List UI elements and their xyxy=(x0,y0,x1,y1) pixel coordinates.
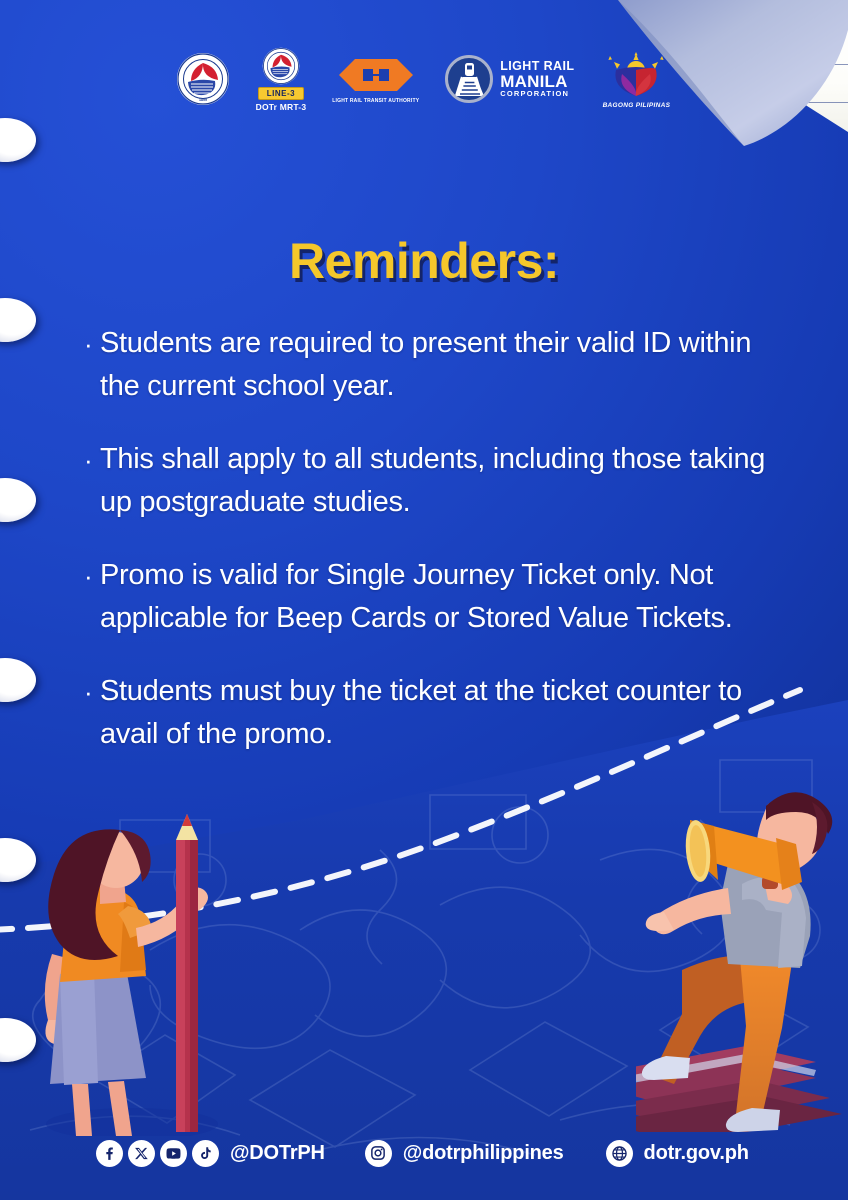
list-item: · Students are required to present their… xyxy=(84,322,784,408)
list-item: · Promo is valid for Single Journey Tick… xyxy=(84,554,784,640)
page-title: Reminders: xyxy=(0,232,848,290)
lrmc-line1: LIGHT RAIL xyxy=(500,60,574,73)
lrmc-badge-icon xyxy=(445,55,493,103)
lrmc-line2: MANILA xyxy=(500,73,574,90)
tiktok-icon[interactable] xyxy=(192,1140,219,1167)
lrmc-line3: CORPORATION xyxy=(500,90,574,98)
instagram-icon[interactable] xyxy=(365,1140,392,1167)
lrmc-wordmark: LIGHT RAIL MANILA CORPORATION xyxy=(500,60,574,98)
social-footer-bar: @DOTrPH @dotrphilippines xyxy=(0,1132,848,1174)
agency-logo-strip: 1899 LINE-3 DOTr MRT-3 xyxy=(0,38,848,120)
instagram-handle[interactable]: @dotrphilippines xyxy=(403,1142,564,1165)
svg-text:1899: 1899 xyxy=(199,98,207,102)
x-twitter-icon[interactable] xyxy=(128,1140,155,1167)
lrta-caption: LIGHT RAIL TRANSIT AUTHORITY xyxy=(332,98,419,104)
bullet-marker: · xyxy=(84,438,100,524)
bagong-pilipinas-caption: BAGONG PILIPINAS xyxy=(603,102,671,109)
mrt3-sublabel: DOTr MRT-3 xyxy=(256,102,307,112)
social-group-instagram: @dotrphilippines xyxy=(365,1140,564,1167)
reminders-list: · Students are required to present their… xyxy=(84,322,784,786)
social-group-dotrph: @DOTrPH xyxy=(96,1140,325,1167)
list-item: · This shall apply to all students, incl… xyxy=(84,438,784,524)
list-item-text: Students are required to present their v… xyxy=(100,322,784,408)
lrmc-logo: LIGHT RAIL MANILA CORPORATION xyxy=(445,55,574,103)
list-item-text: Promo is valid for Single Journey Ticket… xyxy=(100,554,784,640)
bullet-marker: · xyxy=(84,554,100,640)
poster-canvas: 1899 LINE-3 DOTr MRT-3 xyxy=(0,0,848,1200)
man-with-megaphone-illustration xyxy=(636,772,848,1132)
dotr-seal-logo: 1899 xyxy=(176,52,230,106)
website-url[interactable]: dotr.gov.ph xyxy=(644,1142,749,1165)
globe-icon[interactable] xyxy=(606,1140,633,1167)
mrt3-line-badge: LINE-3 xyxy=(258,87,304,100)
list-item-text: This shall apply to all students, includ… xyxy=(100,438,784,524)
bullet-marker: · xyxy=(84,670,100,756)
youtube-icon[interactable] xyxy=(160,1140,187,1167)
bullet-marker: · xyxy=(84,322,100,408)
social-group-website: dotr.gov.ph xyxy=(606,1140,749,1167)
woman-with-pencil-illustration xyxy=(24,806,234,1136)
bagong-pilipinas-logo: BAGONG PILIPINAS xyxy=(600,50,672,109)
list-item-text: Students must buy the ticket at the tick… xyxy=(100,670,784,756)
mrt3-logo: LINE-3 DOTr MRT-3 xyxy=(256,47,307,112)
dotrph-handle[interactable]: @DOTrPH xyxy=(230,1142,325,1165)
list-item: · Students must buy the ticket at the ti… xyxy=(84,670,784,756)
lrta-logo: LIGHT RAIL TRANSIT AUTHORITY xyxy=(332,55,419,104)
facebook-icon[interactable] xyxy=(96,1140,123,1167)
